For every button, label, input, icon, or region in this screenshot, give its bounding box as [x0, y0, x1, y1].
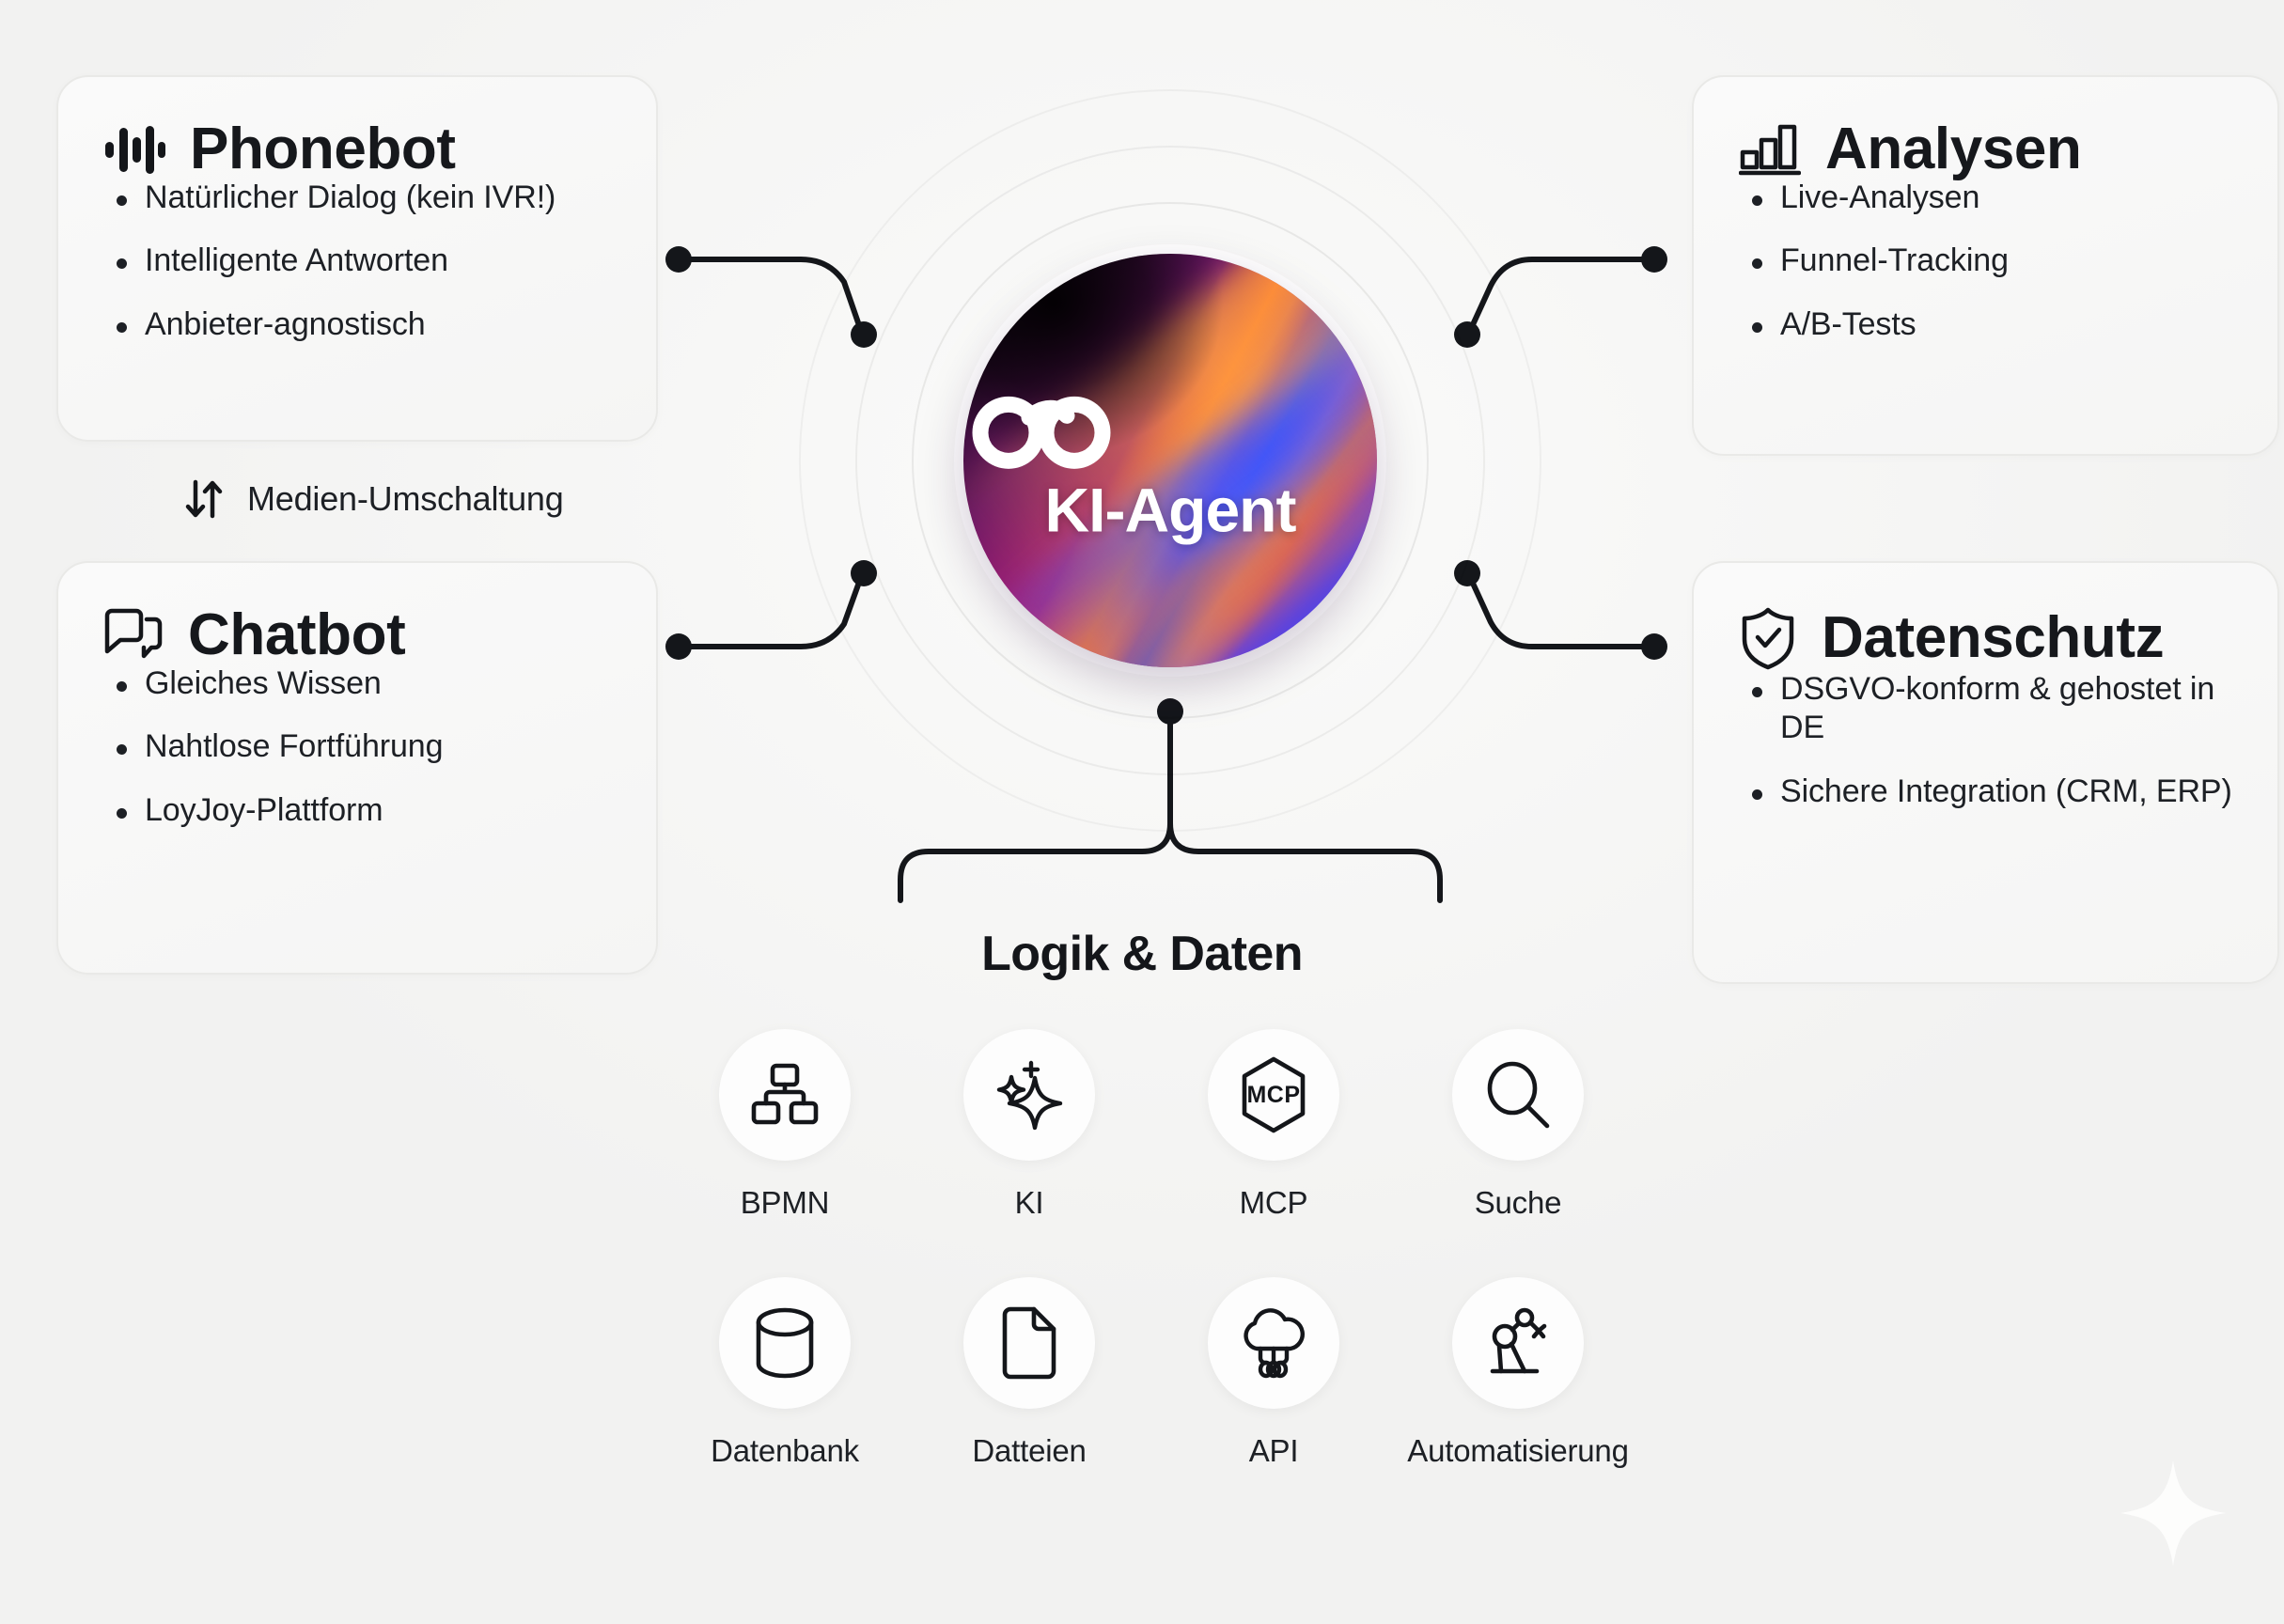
tool-automatisierung[interactable]: Automatisierung — [1396, 1277, 1640, 1469]
tool-bpmn[interactable]: BPMN — [663, 1029, 907, 1221]
hub-title: KI-Agent — [963, 478, 1377, 540]
tool-ki-label: KI — [1015, 1185, 1044, 1221]
tool-ki-badge — [963, 1029, 1095, 1161]
card-analysen-list: Live-Analysen Funnel-Tracking A/B-Tests — [1739, 179, 2232, 344]
tool-datteien-label: Datteien — [972, 1433, 1086, 1469]
magnifier-icon — [1483, 1060, 1553, 1130]
audio-waveform-icon — [103, 122, 165, 177]
sparkles-icon — [993, 1059, 1065, 1131]
up-down-arrows-icon — [183, 477, 225, 521]
hub-label-group: KI-Agent — [963, 392, 1377, 540]
tool-bpmn-label: BPMN — [741, 1185, 830, 1221]
card-phonebot-list: Natürlicher Dialog (kein IVR!) Intellige… — [103, 179, 611, 344]
card-analysen-title: Analysen — [1825, 120, 2081, 179]
card-analysen-header: Analysen — [1739, 120, 2232, 179]
media-switch-label: Medien-Umschaltung — [183, 477, 564, 521]
tool-mcp-badge: MCP — [1208, 1029, 1339, 1161]
list-item: Gleiches Wissen — [103, 664, 611, 703]
tool-datenbank-badge — [719, 1277, 851, 1409]
tool-suche[interactable]: Suche — [1396, 1029, 1640, 1221]
list-item: DSGVO-konform & gehostet in DE — [1739, 670, 2232, 748]
logic-section-title: Logik & Daten — [0, 926, 2284, 982]
cloud-nodes-icon — [1236, 1306, 1311, 1380]
tool-automatisierung-label: Automatisierung — [1407, 1433, 1628, 1469]
card-chatbot-list: Gleiches Wissen Nahtlose Fortführung Loy… — [103, 664, 611, 830]
tool-datteien-badge — [963, 1277, 1095, 1409]
bar-chart-icon — [1739, 122, 1801, 177]
card-phonebot[interactable]: Phonebot Natürlicher Dialog (kein IVR!) … — [56, 75, 658, 442]
diagram-canvas: KI-Agent Phonebot Natürlicher Di — [0, 0, 2284, 1624]
hub-core-circle[interactable]: KI-Agent — [963, 254, 1377, 667]
tool-api-label: API — [1249, 1433, 1299, 1469]
tool-ki[interactable]: KI — [907, 1029, 1151, 1221]
chat-bubble-icon — [103, 607, 164, 664]
card-chatbot-title: Chatbot — [188, 606, 405, 664]
tool-suche-label: Suche — [1475, 1185, 1562, 1221]
card-chatbot[interactable]: Chatbot Gleiches Wissen Nahtlose Fortfüh… — [56, 561, 658, 975]
card-phonebot-header: Phonebot — [103, 120, 611, 179]
hexagon-mcp-icon: MCP — [1240, 1056, 1307, 1133]
tool-datteien[interactable]: Datteien — [907, 1277, 1151, 1469]
list-item: Anbieter-agnostisch — [103, 305, 611, 344]
file-document-icon — [999, 1305, 1059, 1381]
list-item: Funnel-Tracking — [1739, 242, 2232, 280]
tool-api[interactable]: API — [1151, 1277, 1396, 1469]
list-item: Intelligente Antworten — [103, 242, 611, 280]
tool-datenbank[interactable]: Datenbank — [663, 1277, 907, 1469]
tool-datenbank-label: Datenbank — [711, 1433, 859, 1469]
tool-suche-badge — [1452, 1029, 1584, 1161]
media-switch-text: Medien-Umschaltung — [247, 479, 564, 519]
list-item: LoyJoy-Plattform — [103, 791, 611, 830]
shield-check-icon — [1739, 606, 1797, 670]
card-datenschutz-header: Datenschutz — [1739, 606, 2232, 670]
tool-bpmn-badge — [719, 1029, 851, 1161]
card-datenschutz[interactable]: Datenschutz DSGVO-konform & gehostet in … — [1692, 561, 2279, 984]
tool-api-badge — [1208, 1277, 1339, 1409]
tool-automatisierung-badge — [1452, 1277, 1584, 1409]
card-phonebot-title: Phonebot — [190, 120, 456, 179]
tool-mcp[interactable]: MCP MCP — [1151, 1029, 1396, 1221]
infinity-icon — [963, 392, 1377, 473]
list-item: A/B-Tests — [1739, 305, 2232, 344]
logic-tool-grid: BPMN KI — [663, 1029, 1640, 1469]
database-cylinder-icon — [752, 1306, 818, 1380]
list-item: Sichere Integration (CRM, ERP) — [1739, 773, 2232, 811]
robot-arm-icon — [1480, 1305, 1556, 1381]
card-datenschutz-title: Datenschutz — [1822, 609, 2164, 667]
list-item: Natürlicher Dialog (kein IVR!) — [103, 179, 611, 217]
org-chart-icon — [750, 1062, 820, 1128]
four-point-star-icon — [2117, 1457, 2229, 1569]
card-analysen[interactable]: Analysen Live-Analysen Funnel-Tracking A… — [1692, 75, 2279, 456]
list-item: Nahtlose Fortführung — [103, 727, 611, 766]
card-datenschutz-list: DSGVO-konform & gehostet in DE Sichere I… — [1739, 670, 2232, 811]
mcp-badge-text: MCP — [1246, 1082, 1300, 1108]
card-chatbot-header: Chatbot — [103, 606, 611, 664]
list-item: Live-Analysen — [1739, 179, 2232, 217]
tool-mcp-label: MCP — [1240, 1185, 1308, 1221]
